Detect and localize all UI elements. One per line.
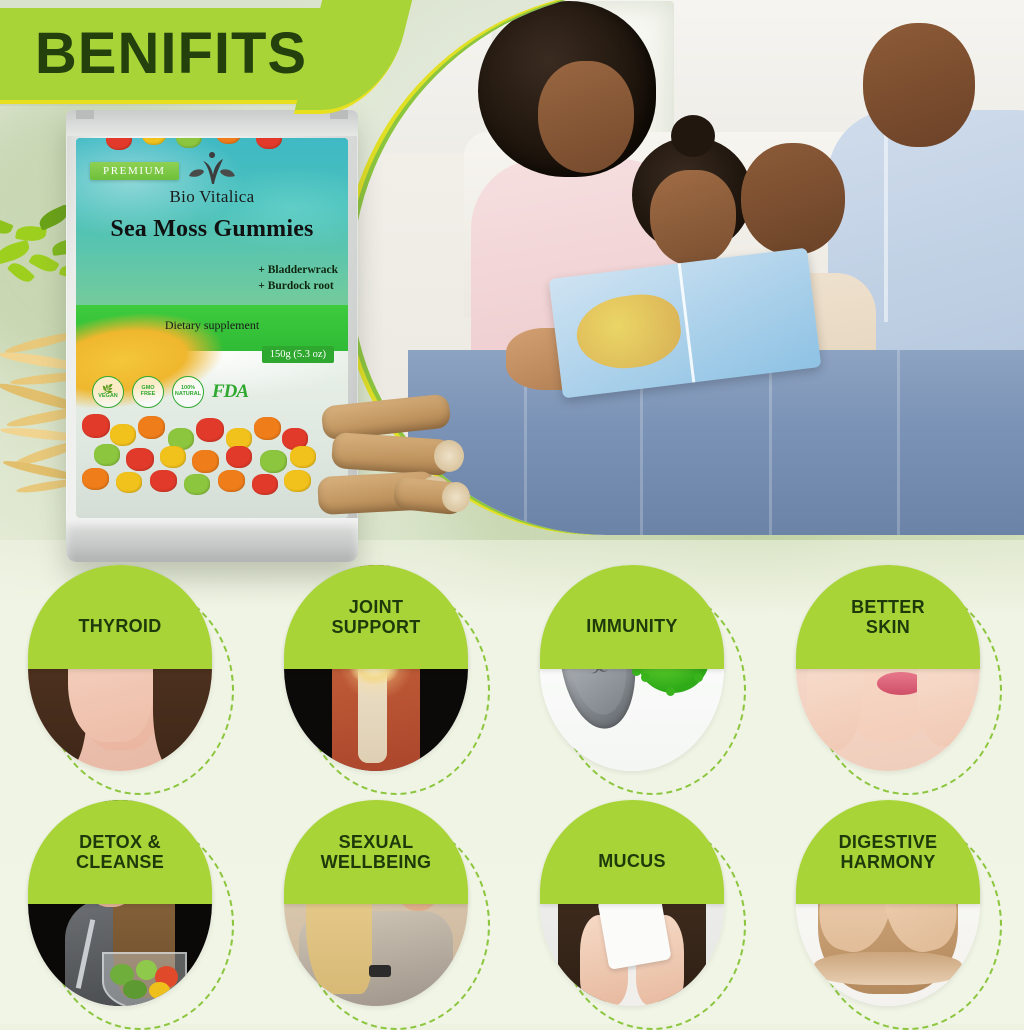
product-ingredients: + Bladderwrack + Burdock root: [258, 263, 338, 294]
vegan-badge-label: VEGAN: [98, 394, 118, 400]
burdock-roots: [322, 398, 472, 528]
benefits-row-2: DETOX &CLEANSE SEXUALWELLBEING: [0, 800, 1024, 1022]
natural-badge: 100% NATURAL: [172, 376, 204, 408]
ingredient-burdock-root: + Burdock root: [258, 279, 338, 295]
book-spine: [678, 263, 696, 382]
father-shirt-placket: [884, 132, 888, 322]
gmo-free-badge: GMO FREE: [132, 376, 164, 408]
gmo-badge-line2: FREE: [141, 392, 156, 398]
book-illustration: [573, 290, 685, 374]
benefit-thyroid[interactable]: THYROID: [28, 565, 228, 787]
vegan-badge: 🌿 VEGAN: [92, 376, 124, 408]
benefit-immunity[interactable]: ☣ IMMUNITY: [540, 565, 740, 787]
benefit-better-skin[interactable]: BETTERSKIN: [796, 565, 996, 787]
certification-badges: 🌿 VEGAN GMO FREE 100% NATURAL FDA: [92, 376, 334, 408]
product-title: Sea Moss Gummies: [76, 216, 348, 243]
fda-badge: FDA: [212, 381, 248, 403]
dietary-supplement-label: Dietary supplement: [76, 318, 348, 333]
product-package: PREMIUM Bio Vitalica Sea Moss Gummies + …: [66, 110, 358, 562]
package-bottom-gusset: [66, 518, 358, 562]
page-title: BENIFITS: [0, 20, 360, 87]
package-front-label: PREMIUM Bio Vitalica Sea Moss Gummies + …: [76, 138, 348, 518]
benefit-detox-cleanse[interactable]: DETOX &CLEANSE: [28, 800, 228, 1022]
brand-name: Bio Vitalica: [170, 187, 255, 206]
benefit-mucus[interactable]: MUCUS: [540, 800, 740, 1022]
father-head: [863, 23, 975, 147]
leaf-sprout-icon: [189, 152, 235, 186]
natural-badge-line2: NATURAL: [175, 392, 201, 398]
package-pouch: PREMIUM Bio Vitalica Sea Moss Gummies + …: [66, 110, 358, 562]
ingredient-bladderwrack: + Bladderwrack: [258, 263, 338, 279]
benefits-banner: BENIFITS: [0, 8, 360, 104]
package-notch: [76, 110, 94, 119]
brand-lockup: Bio Vitalica: [76, 152, 348, 207]
benefit-sexual-wellbeing[interactable]: SEXUALWELLBEING: [284, 800, 484, 1022]
girl-hair-bun: [671, 115, 715, 157]
mother-face: [538, 61, 634, 173]
benefits-row-1: THYROID JOINTSUPPORT ☣: [0, 565, 1024, 787]
benefit-joint-support[interactable]: JOINTSUPPORT: [284, 565, 484, 787]
net-weight-badge: 150g (5.3 oz): [262, 346, 334, 363]
benefit-digestive-harmony[interactable]: DIGESTIVEHARMONY: [796, 800, 996, 1022]
boy-head: [741, 143, 845, 255]
girl-face: [650, 170, 736, 266]
